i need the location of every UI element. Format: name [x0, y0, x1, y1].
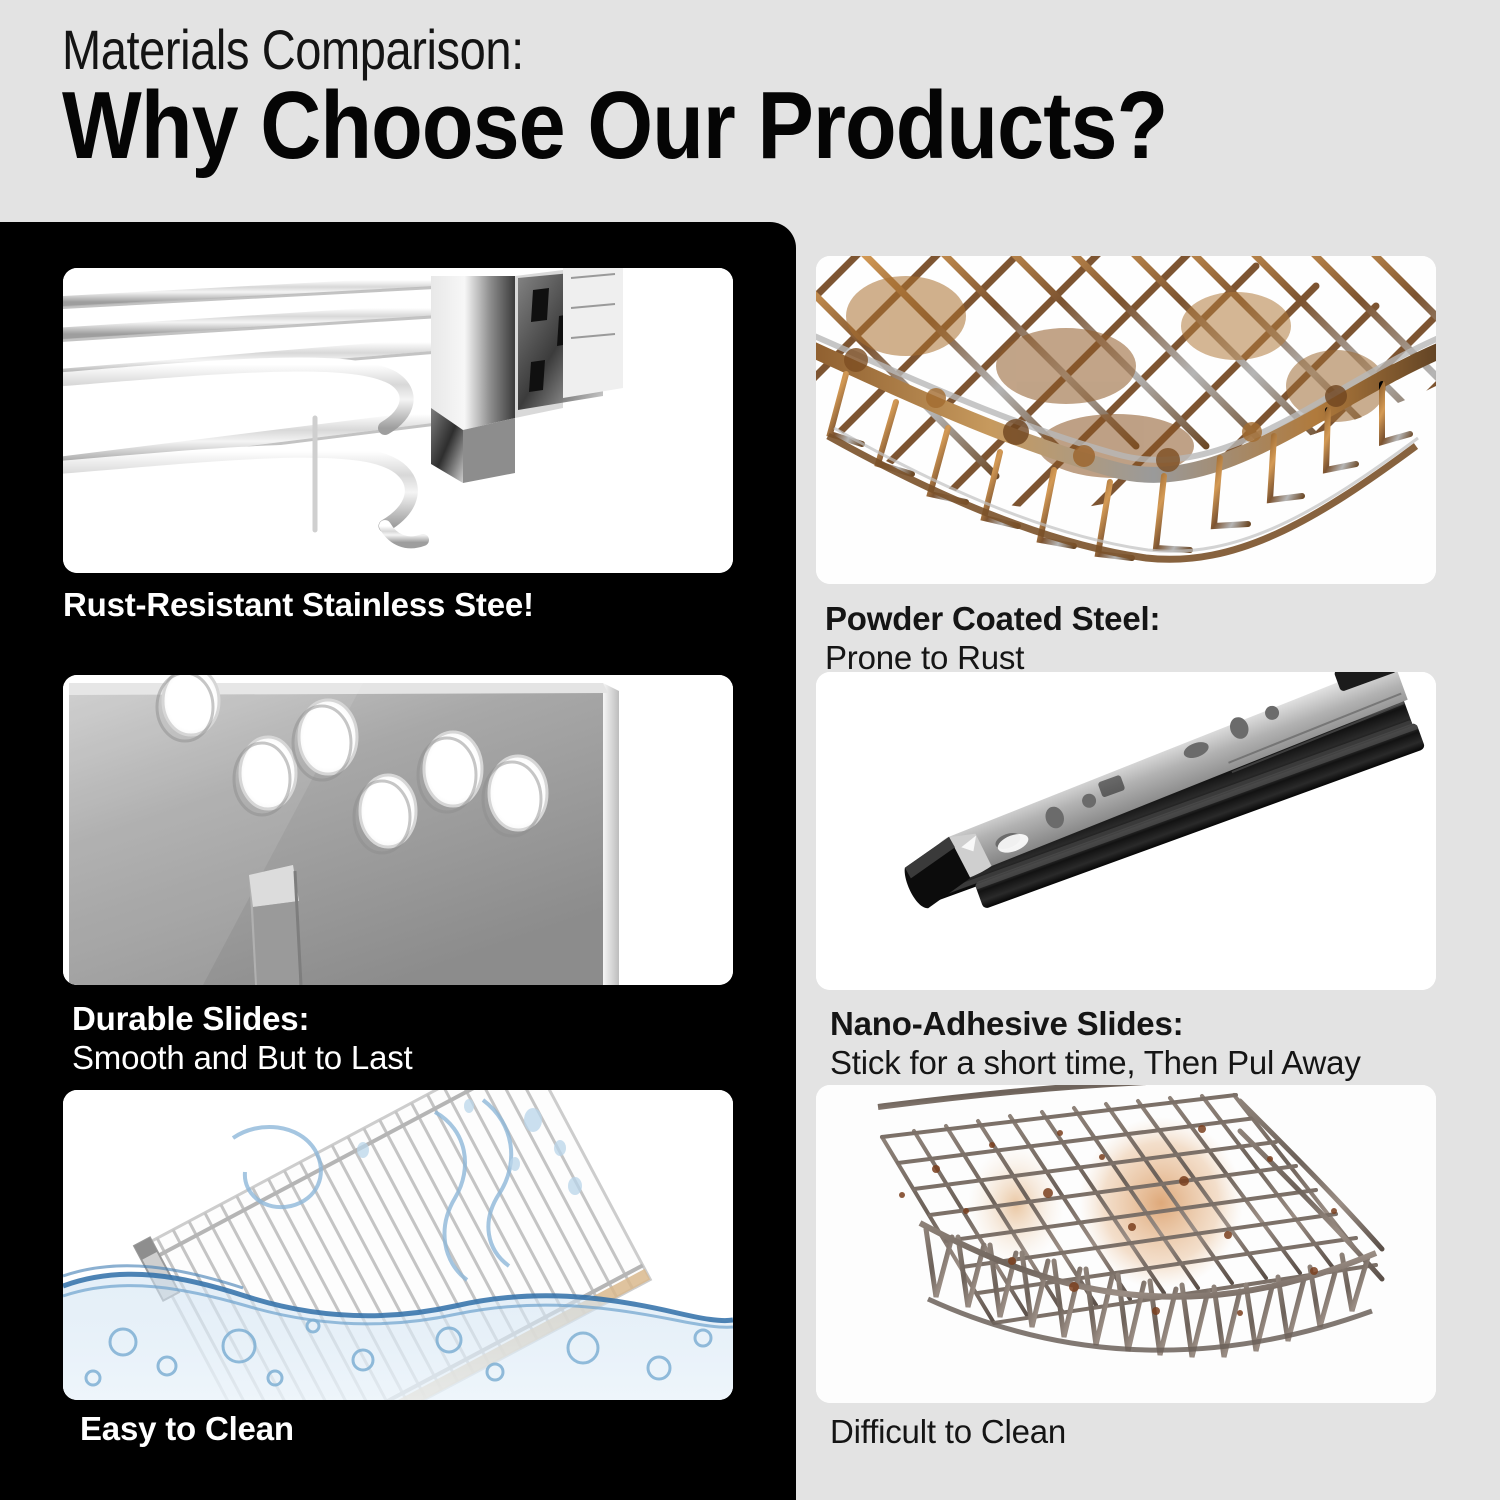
caption-title: Difficult to Clean — [830, 1413, 1066, 1452]
caption-title: Durable Slides: — [72, 1000, 413, 1039]
caption-stainless-steel: Rust-Resistant Stainless Stee! — [63, 586, 534, 625]
stained-rusty-wire-basket-illustration — [816, 1085, 1436, 1403]
image-card-rusted-mesh — [816, 256, 1436, 584]
black-ball-bearing-drawer-slide-illustration — [816, 672, 1436, 990]
stainless-steel-rack-corner-illustration — [63, 268, 733, 573]
caption-easy-to-clean: Easy to Clean — [80, 1410, 294, 1449]
caption-title: Easy to Clean — [80, 1410, 294, 1449]
header-banner: Materials Comparison: Why Choose Our Pro… — [0, 0, 1500, 222]
image-card-durable-slides — [63, 675, 733, 985]
image-card-difficult-to-clean — [816, 1085, 1436, 1403]
image-card-easy-to-clean — [63, 1090, 733, 1400]
caption-powder-coated-steel: Powder Coated Steel: Prone to Rust — [825, 600, 1160, 678]
durable-slide-metal-plate-illustration — [63, 675, 733, 985]
caption-nano-adhesive-slides: Nano-Adhesive Slides: Stick for a short … — [830, 1005, 1361, 1083]
caption-title: Powder Coated Steel: — [825, 600, 1160, 639]
page-eyebrow: Materials Comparison: — [62, 22, 524, 78]
caption-subtitle: Stick for a short time, Then Pul Away — [830, 1044, 1361, 1083]
caption-difficult-to-clean: Difficult to Clean — [830, 1413, 1066, 1452]
image-card-stainless-steel-rack — [63, 268, 733, 573]
caption-title: Rust-Resistant Stainless Stee! — [63, 586, 534, 625]
page-title: Why Choose Our Products? — [62, 78, 1167, 174]
caption-durable-slides: Durable Slides: Smooth and But to Last — [72, 1000, 413, 1078]
image-card-nano-adhesive-slides — [816, 672, 1436, 990]
wire-rack-water-splash-illustration — [63, 1090, 733, 1400]
rusted-wire-mesh-corner-illustration — [816, 256, 1436, 584]
caption-subtitle: Smooth and But to Last — [72, 1039, 413, 1078]
caption-title: Nano-Adhesive Slides: — [830, 1005, 1361, 1044]
